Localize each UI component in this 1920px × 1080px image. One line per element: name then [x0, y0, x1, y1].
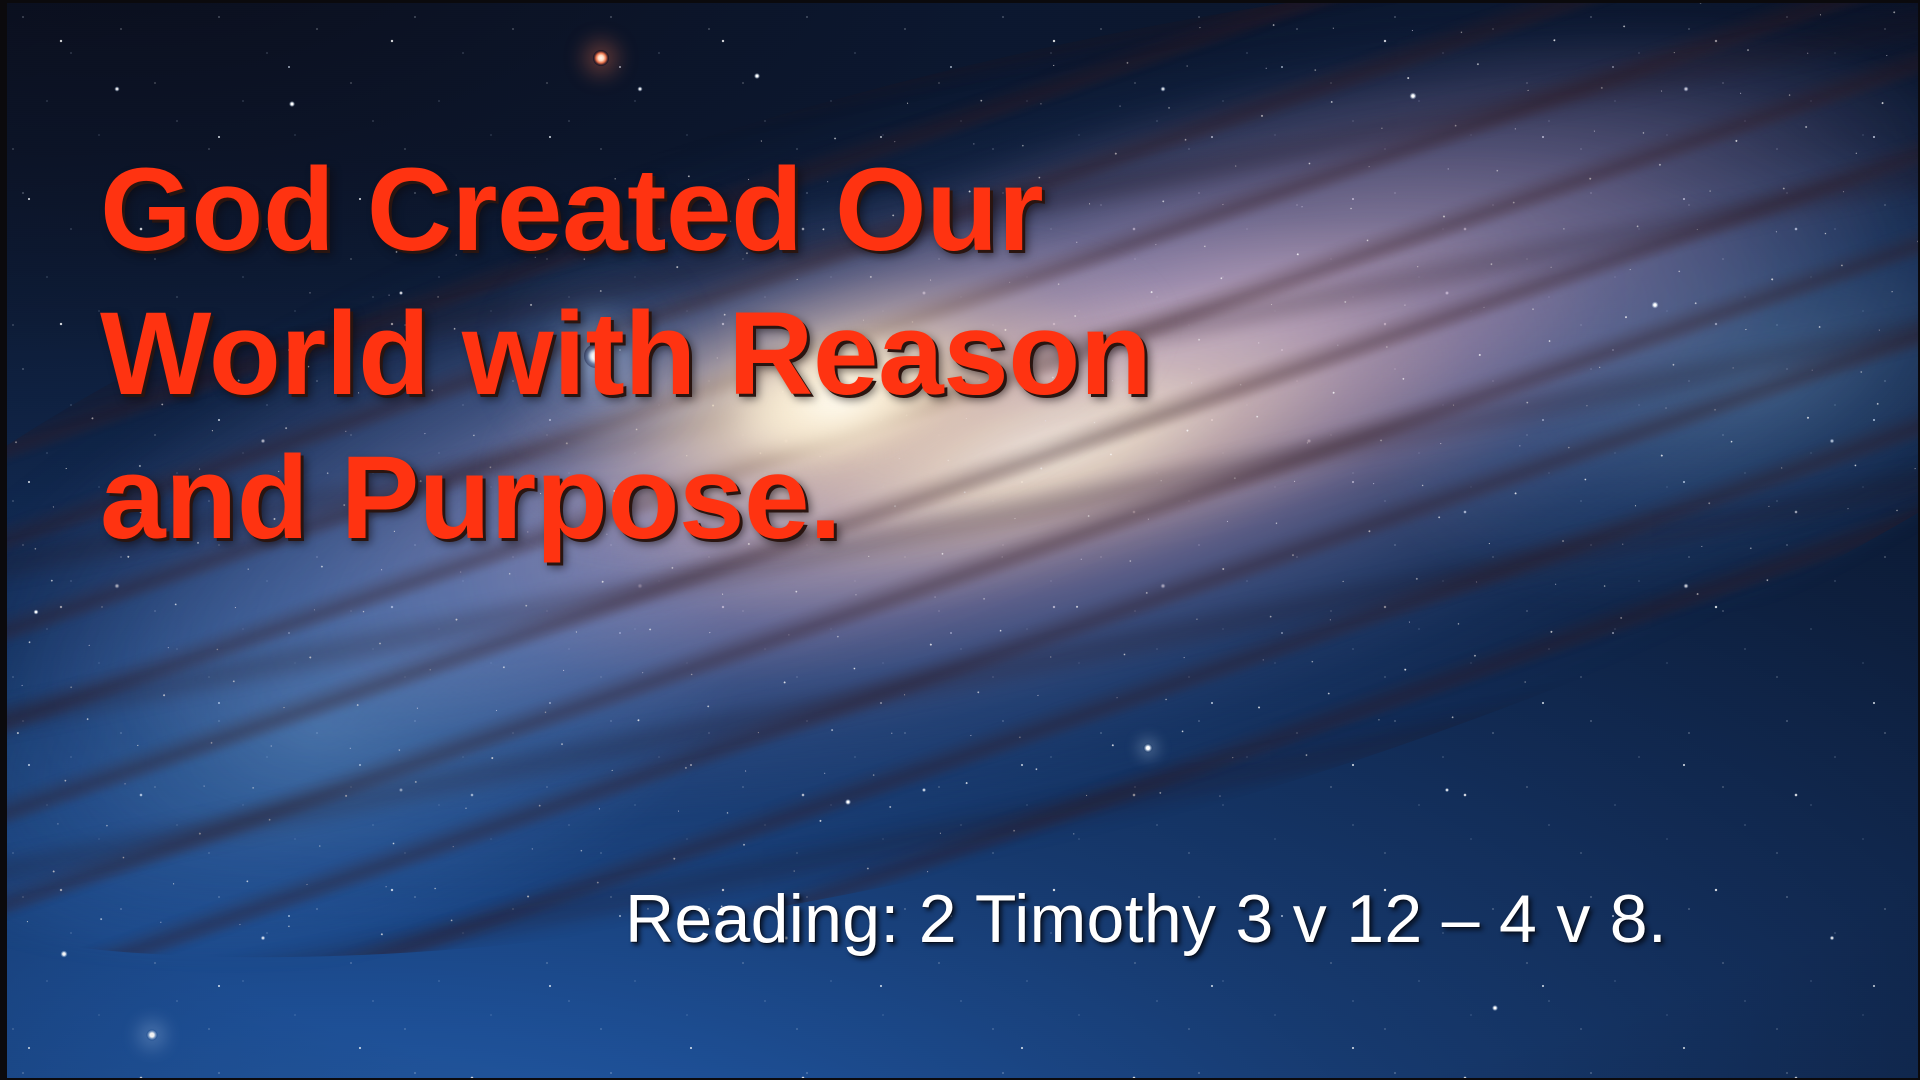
star-left-mid-icon — [61, 951, 68, 958]
slide-reading-reference: Reading: 2 Timothy 3 v 12 – 4 v 8. — [625, 880, 1667, 958]
red-giant-star-icon — [593, 50, 609, 66]
slide-title: God Created Our World with Reason and Pu… — [100, 138, 1860, 570]
star-center-low-icon — [1144, 744, 1153, 753]
presentation-slide: God Created Our World with Reason and Pu… — [0, 0, 1920, 1080]
slide-title-line-3: and Purpose. — [100, 426, 1860, 570]
star-bottom-mid-icon — [845, 799, 851, 805]
star-lower-left-icon — [147, 1030, 158, 1041]
slide-title-line-2: World with Reason — [100, 282, 1860, 426]
star-upper-mid-icon — [754, 73, 760, 79]
slide-title-line-1: God Created Our — [100, 138, 1860, 282]
star-far-left-icon — [34, 610, 39, 615]
star-upper-left-icon — [289, 101, 295, 107]
star-right-high-icon — [1410, 93, 1417, 100]
star-bottom-right-icon — [1492, 1005, 1498, 1011]
